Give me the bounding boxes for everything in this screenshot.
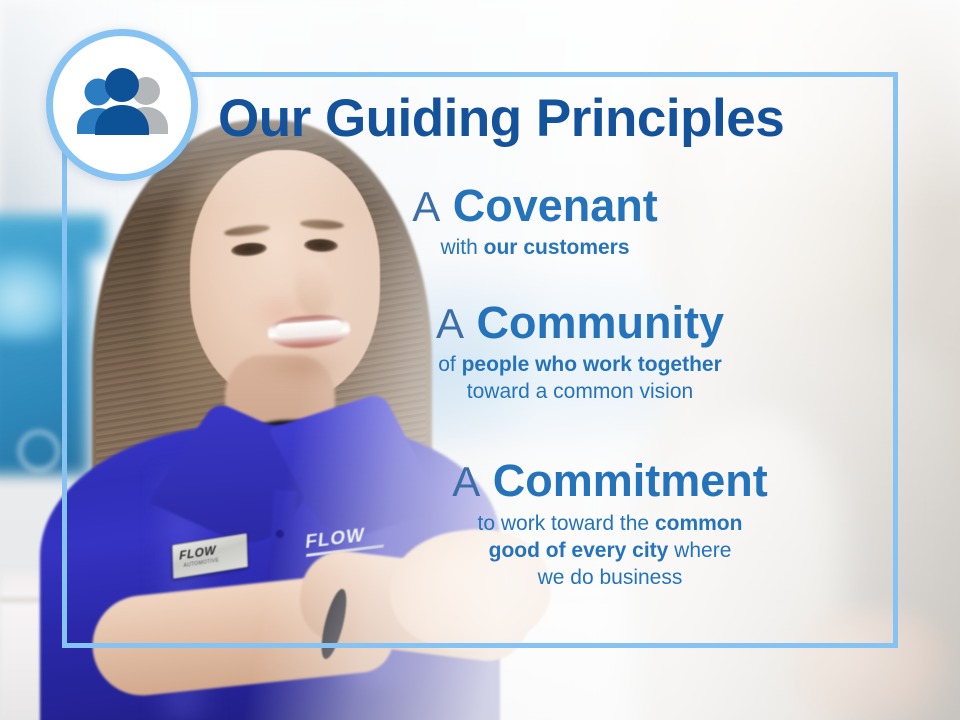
principle-commitment: A Commitment to work toward the common g… bbox=[330, 458, 890, 592]
detail-emphasis: our customers bbox=[484, 236, 630, 259]
principle-keyword: Community bbox=[477, 297, 725, 348]
detail-text: of bbox=[438, 353, 461, 376]
detail-emphasis: common bbox=[655, 512, 743, 535]
detail-text: we do business bbox=[538, 566, 683, 589]
detail-text: with bbox=[440, 236, 483, 259]
principle-keyword: Covenant bbox=[453, 180, 658, 231]
principle-community: A Community of people who work together … bbox=[300, 300, 860, 406]
principle-detail-line: good of every city where bbox=[330, 537, 890, 564]
principle-detail-line: toward a common vision bbox=[300, 379, 860, 406]
detail-emphasis: people who work together bbox=[462, 353, 722, 376]
principle-detail: with our customers bbox=[300, 235, 770, 262]
people-group-badge bbox=[46, 29, 198, 181]
principle-heading: A Covenant bbox=[300, 183, 770, 230]
principle-detail-line: we do business bbox=[330, 564, 890, 591]
page-title: Our Guiding Principles bbox=[218, 92, 890, 145]
detail-emphasis: good of every city bbox=[489, 539, 669, 562]
detail-text: to work toward the bbox=[478, 512, 655, 535]
principle-heading: A Commitment bbox=[330, 458, 890, 505]
principle-covenant: A Covenant with our customers bbox=[300, 183, 770, 262]
detail-text: toward a common vision bbox=[467, 380, 693, 403]
principle-detail-line: of people who work together bbox=[300, 352, 860, 379]
principle-heading: A Community bbox=[300, 300, 860, 347]
principle-detail-line: with our customers bbox=[300, 235, 770, 262]
principle-keyword: Commitment bbox=[493, 455, 768, 506]
principle-detail-line: to work toward the common bbox=[330, 510, 890, 537]
principle-article: A bbox=[436, 300, 464, 347]
principle-article: A bbox=[452, 458, 480, 505]
people-group-icon bbox=[70, 65, 174, 145]
detail-text: where bbox=[668, 539, 731, 562]
principle-detail: of people who work together toward a com… bbox=[300, 352, 860, 406]
graphic-canvas: FLOW FLOW AUTOMOTIVE bbox=[0, 0, 960, 720]
principle-article: A bbox=[412, 183, 440, 230]
principle-detail: to work toward the common good of every … bbox=[330, 510, 890, 592]
